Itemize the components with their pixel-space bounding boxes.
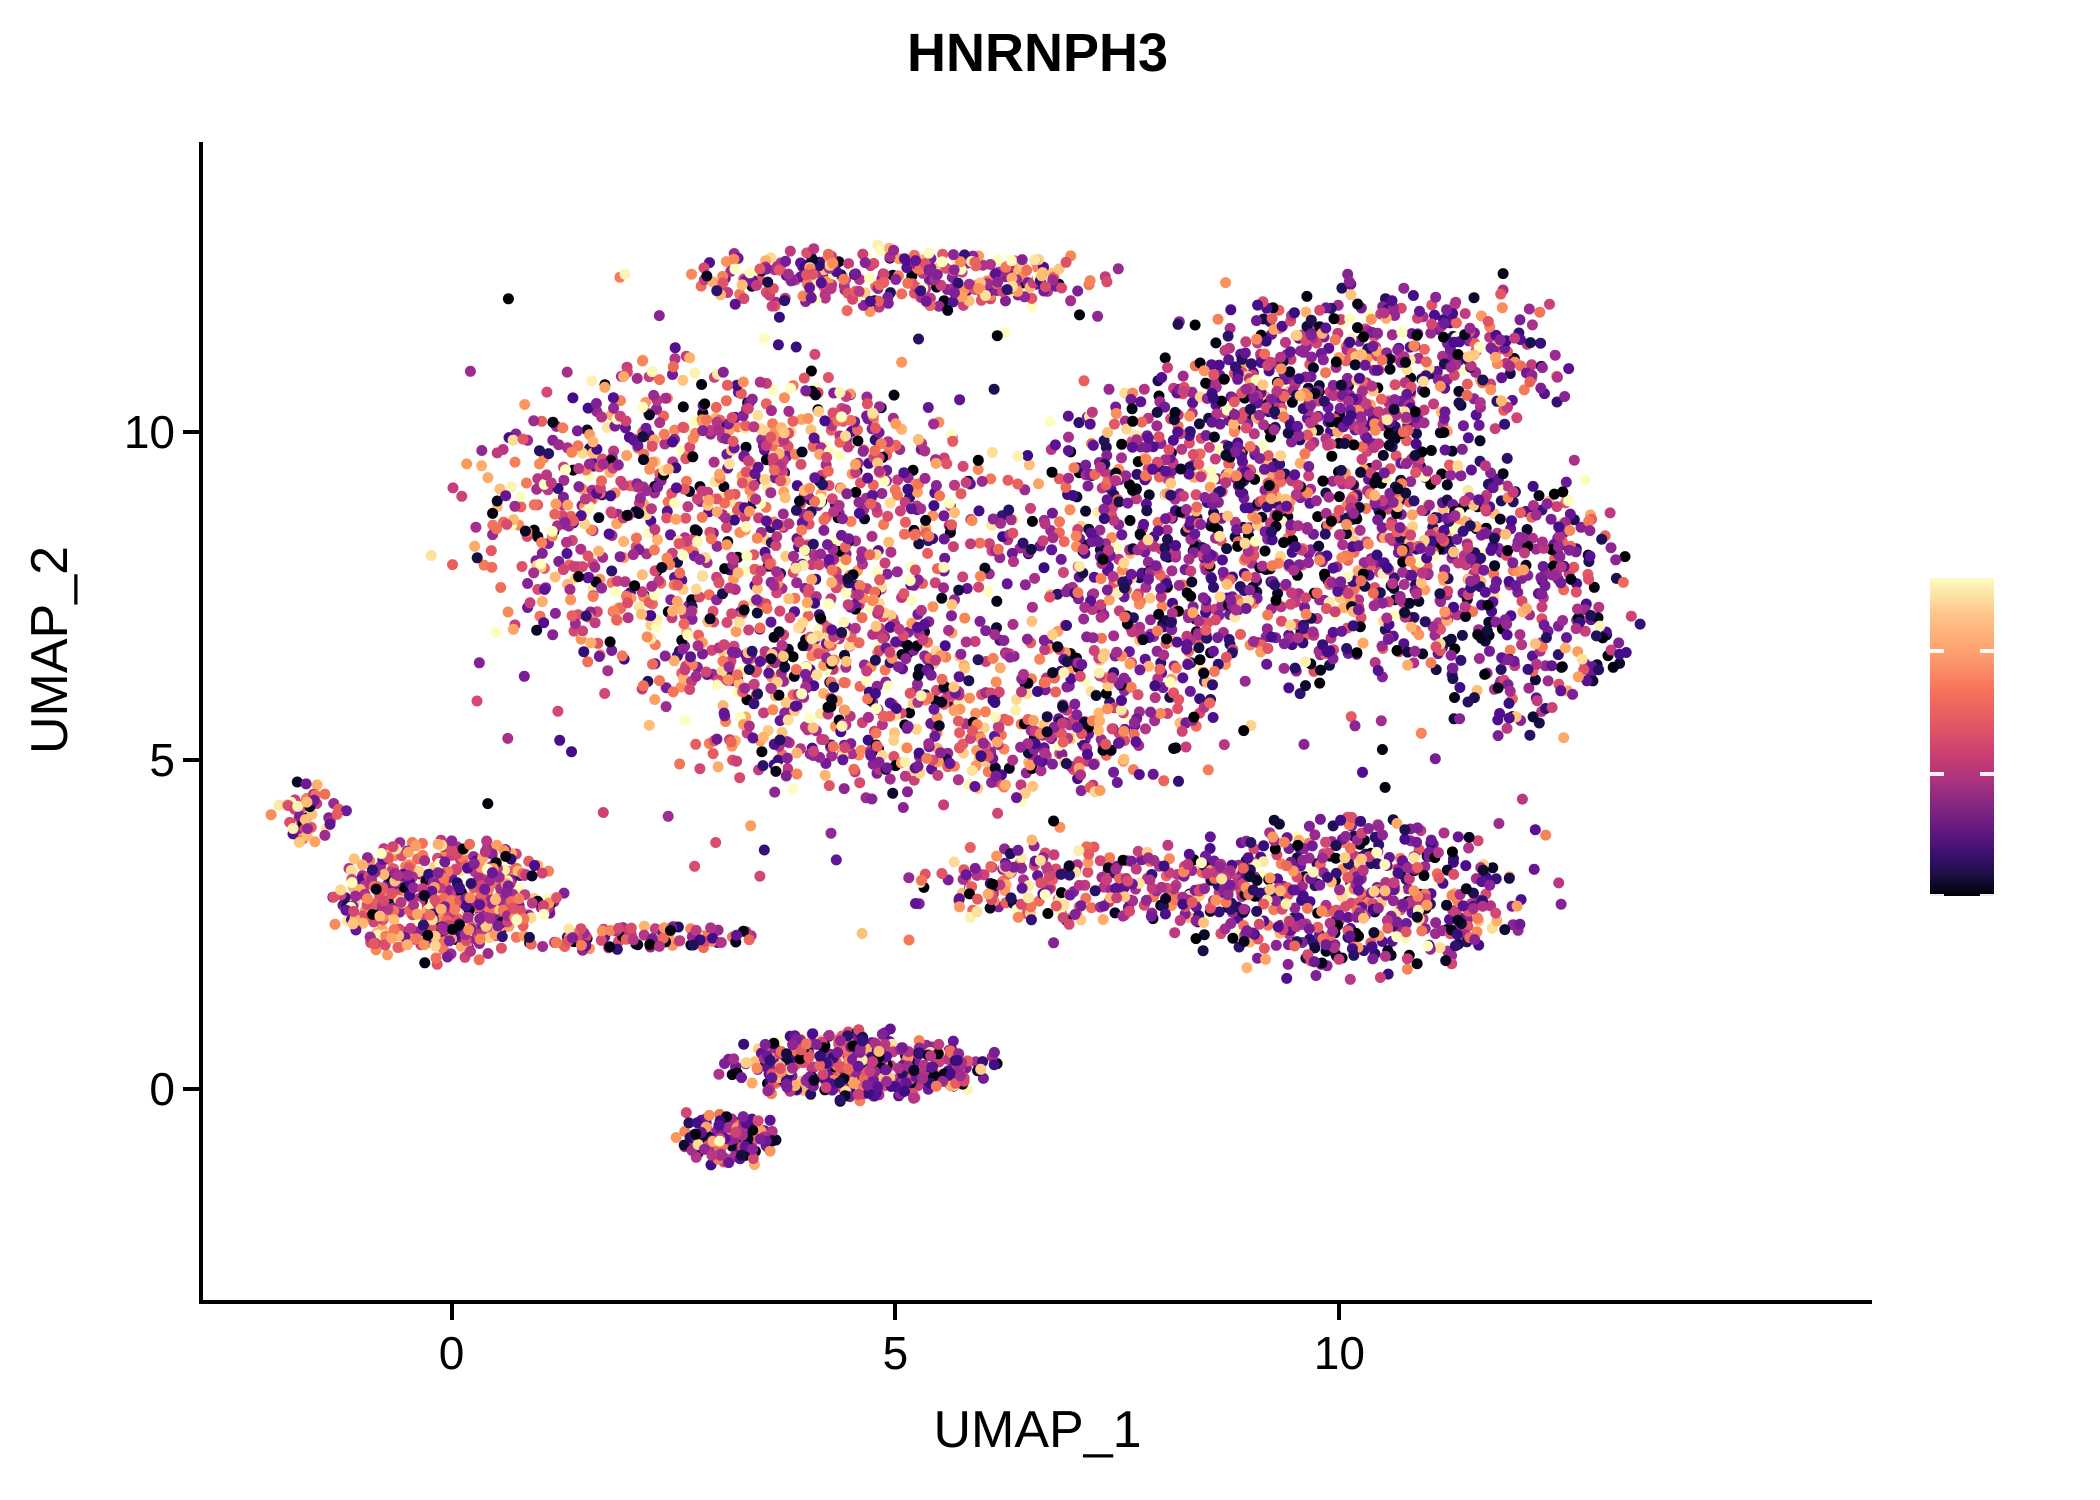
- scatter-point: [870, 655, 881, 666]
- scatter-point: [330, 919, 341, 930]
- scatter-point: [1047, 667, 1058, 678]
- scatter-point: [890, 484, 901, 495]
- scatter-point: [547, 417, 558, 428]
- scatter-point: [1440, 445, 1451, 456]
- scatter-point: [900, 517, 911, 528]
- scatter-point: [1505, 686, 1516, 697]
- scatter-point: [518, 434, 529, 445]
- scatter-point: [1082, 867, 1093, 878]
- scatter-point: [593, 512, 604, 523]
- scatter-point: [1352, 299, 1363, 310]
- scatter-point: [581, 611, 592, 622]
- scatter-point: [1311, 495, 1322, 506]
- scatter-point: [1000, 295, 1011, 306]
- scatter-point: [1534, 307, 1545, 318]
- scatter-point: [1475, 397, 1486, 408]
- scatter-point: [1542, 498, 1553, 509]
- scatter-point: [487, 508, 498, 519]
- scatter-point: [1408, 290, 1419, 301]
- scatter-point: [808, 722, 819, 733]
- scatter-point: [1439, 828, 1450, 839]
- scatter-point: [961, 477, 972, 488]
- scatter-point: [1446, 634, 1457, 645]
- scatter-point: [1320, 837, 1331, 848]
- scatter-point: [1140, 723, 1151, 734]
- scatter-point: [1036, 765, 1047, 776]
- scatter-point: [954, 394, 965, 405]
- scatter-point: [876, 488, 887, 499]
- scatter-point: [744, 664, 755, 675]
- scatter-point: [1580, 475, 1591, 486]
- scatter-point: [1000, 779, 1011, 790]
- scatter-point: [566, 447, 577, 458]
- scatter-point: [573, 481, 584, 492]
- scatter-point: [606, 566, 617, 577]
- scatter-point: [1049, 849, 1060, 860]
- scatter-point: [621, 450, 632, 461]
- scatter-point: [1436, 533, 1447, 544]
- scatter-point: [1375, 972, 1386, 983]
- scatter-point: [1061, 620, 1072, 631]
- scatter-point: [889, 390, 900, 401]
- scatter-point: [814, 559, 825, 570]
- scatter-point: [872, 741, 883, 752]
- scatter-point: [1440, 406, 1451, 417]
- scatter-point: [1075, 900, 1086, 911]
- scatter-point: [694, 554, 705, 565]
- scatter-point: [954, 671, 965, 682]
- scatter-point: [1241, 571, 1252, 582]
- scatter-point: [1430, 292, 1441, 303]
- scatter-point: [1293, 430, 1304, 441]
- scatter-point: [1585, 551, 1596, 562]
- scatter-point: [893, 661, 904, 672]
- scatter-point: [1320, 529, 1331, 540]
- scatter-point: [1401, 412, 1412, 423]
- scatter-point: [947, 436, 958, 447]
- scatter-point: [858, 446, 869, 457]
- scatter-point: [1088, 759, 1099, 770]
- scatter-point: [1208, 712, 1219, 723]
- scatter-point: [1357, 454, 1368, 465]
- scatter-point: [1300, 656, 1311, 667]
- scatter-point: [637, 569, 648, 580]
- scatter-point: [1022, 450, 1033, 461]
- scatter-point: [985, 259, 996, 270]
- scatter-point: [1026, 914, 1037, 925]
- scatter-point: [1442, 479, 1453, 490]
- scatter-point: [649, 694, 660, 705]
- scatter-point: [759, 845, 770, 856]
- scatter-point: [1012, 479, 1023, 490]
- scatter-point: [1610, 554, 1621, 565]
- scatter-point: [1033, 478, 1044, 489]
- scatter-point: [1337, 539, 1348, 550]
- scatter-point: [1050, 439, 1061, 450]
- scatter-point: [654, 675, 665, 686]
- scatter-point: [583, 551, 594, 562]
- scatter-point: [758, 732, 769, 743]
- scatter-point: [823, 372, 834, 383]
- scatter-point: [1039, 747, 1050, 758]
- scatter-point: [1235, 629, 1246, 640]
- scatter-point: [1194, 418, 1205, 429]
- scatter-point: [1198, 917, 1209, 928]
- scatter-point: [1065, 504, 1076, 515]
- scatter-point: [1350, 720, 1361, 731]
- scatter-point: [508, 435, 519, 446]
- scatter-point: [1497, 302, 1508, 313]
- scatter-point: [652, 482, 663, 493]
- scatter-point: [1176, 444, 1187, 455]
- scatter-point: [880, 558, 891, 569]
- scatter-point: [1516, 639, 1527, 650]
- scatter-point: [1535, 383, 1546, 394]
- scatter-point: [1108, 515, 1119, 526]
- scatter-point: [662, 553, 673, 564]
- scatter-point: [781, 771, 792, 782]
- scatter-point: [1193, 459, 1204, 470]
- scatter-point: [1378, 450, 1389, 461]
- scatter-point: [1188, 712, 1199, 723]
- scatter-point: [534, 459, 545, 470]
- scatter-point: [1225, 304, 1236, 315]
- scatter-point: [857, 612, 868, 623]
- scatter-point: [796, 459, 807, 470]
- scatter-point: [726, 608, 737, 619]
- scatter-point: [1306, 352, 1317, 363]
- scatter-point: [866, 794, 877, 805]
- scatter-point: [1170, 407, 1181, 418]
- scatter-point: [774, 606, 785, 617]
- scatter-point: [1170, 742, 1181, 753]
- scatter-point: [1246, 358, 1257, 369]
- scatter-point: [992, 330, 1003, 341]
- scatter-point: [973, 654, 984, 665]
- scatter-point: [1412, 958, 1423, 969]
- scatter-point: [671, 1132, 682, 1143]
- scatter-point: [1299, 739, 1310, 750]
- scatter-point: [1078, 614, 1089, 625]
- scatter-point: [755, 656, 766, 667]
- scatter-point: [1185, 686, 1196, 697]
- scatter-point: [722, 380, 733, 391]
- scatter-point: [1145, 593, 1156, 604]
- scatter-point: [1190, 320, 1201, 331]
- scatter-point: [1119, 612, 1130, 623]
- scatter-point: [547, 526, 558, 537]
- scatter-point: [751, 594, 762, 605]
- scatter-point: [588, 436, 599, 447]
- scatter-point: [903, 721, 914, 732]
- scatter-point: [1162, 362, 1173, 373]
- scatter-point: [1025, 503, 1036, 514]
- scatter-point: [1279, 663, 1290, 674]
- scatter-point: [863, 712, 874, 723]
- scatter-point: [1061, 758, 1072, 769]
- scatter-point: [1099, 513, 1110, 524]
- scatter-point: [1303, 461, 1314, 472]
- scatter-point: [1165, 478, 1176, 489]
- scatter-point: [1074, 309, 1085, 320]
- scatter-point: [1044, 592, 1055, 603]
- scatter-point: [588, 591, 599, 602]
- scatter-point: [1411, 837, 1422, 848]
- scatter-point: [926, 670, 937, 681]
- scatter-point: [1493, 730, 1504, 741]
- scatter-point: [790, 701, 801, 712]
- scatter-point: [783, 715, 794, 726]
- scatter-point: [1502, 453, 1513, 464]
- scatter-point: [565, 584, 576, 595]
- scatter-point: [605, 636, 616, 647]
- scatter-point: [1177, 672, 1188, 683]
- scatter-point: [1104, 852, 1115, 863]
- scatter-point: [783, 518, 794, 529]
- scatter-point: [767, 704, 778, 715]
- scatter-point: [1446, 650, 1457, 661]
- scatter-point: [1111, 408, 1122, 419]
- scatter-point: [1303, 470, 1314, 481]
- scatter-point: [1352, 322, 1363, 333]
- scatter-point: [1410, 450, 1421, 461]
- scatter-point: [668, 686, 679, 697]
- scatter-point: [1577, 654, 1588, 665]
- scatter-point: [1370, 425, 1381, 436]
- scatter-point: [943, 625, 954, 636]
- scatter-point: [1267, 313, 1278, 324]
- page-title: HNRNPH3: [203, 22, 1872, 84]
- scatter-point: [1173, 776, 1184, 787]
- scatter-point: [382, 949, 393, 960]
- scatter-point: [1453, 831, 1464, 842]
- scatter-point: [737, 478, 748, 489]
- scatter-point: [961, 637, 972, 648]
- scatter-point: [953, 716, 964, 727]
- scatter-point: [1367, 941, 1378, 952]
- scatter-point: [1102, 585, 1113, 596]
- scatter-point: [1138, 519, 1149, 530]
- scatter-point: [1267, 832, 1278, 843]
- scatter-point: [1187, 897, 1198, 908]
- scatter-points-layer: [203, 142, 1872, 1300]
- scatter-point: [1480, 503, 1491, 514]
- scatter-point: [734, 772, 745, 783]
- scatter-point: [1141, 454, 1152, 465]
- scatter-point: [779, 392, 790, 403]
- scatter-point: [831, 854, 842, 865]
- scatter-point: [1480, 460, 1491, 471]
- scatter-point: [1385, 364, 1396, 375]
- scatter-point: [503, 293, 514, 304]
- scatter-point: [791, 769, 802, 780]
- scatter-point: [1390, 379, 1401, 390]
- scatter-point: [1283, 959, 1294, 970]
- scatter-point: [804, 584, 815, 595]
- scatter-point: [1286, 587, 1297, 598]
- scatter-point: [896, 288, 907, 299]
- scatter-point: [584, 459, 595, 470]
- scatter-point: [809, 433, 820, 444]
- scatter-point: [1453, 558, 1464, 569]
- scatter-point: [599, 382, 610, 393]
- scatter-point: [1240, 676, 1251, 687]
- scatter-point: [1435, 942, 1446, 953]
- scatter-point: [899, 529, 910, 540]
- scatter-point: [827, 565, 838, 576]
- scatter-point: [1063, 432, 1074, 443]
- scatter-point: [871, 621, 882, 632]
- scatter-point: [1218, 567, 1229, 578]
- scatter-point: [728, 254, 739, 265]
- scatter-point: [1361, 433, 1372, 444]
- scatter-point: [949, 857, 960, 868]
- scatter-point: [1441, 304, 1452, 315]
- scatter-point: [905, 575, 916, 586]
- scatter-point: [1463, 843, 1474, 854]
- scatter-point: [1096, 573, 1107, 584]
- scatter-point: [782, 753, 793, 764]
- scatter-point: [490, 894, 501, 905]
- scatter-point: [508, 624, 519, 635]
- scatter-point: [1524, 304, 1535, 315]
- scatter-point: [823, 466, 834, 477]
- scatter-point: [796, 525, 807, 536]
- scatter-point: [755, 623, 766, 634]
- scatter-point: [1101, 276, 1112, 287]
- scatter-point: [1189, 529, 1200, 540]
- scatter-point: [1475, 553, 1486, 564]
- scatter-point: [693, 640, 704, 651]
- scatter-point: [266, 809, 277, 820]
- scatter-point: [1013, 845, 1024, 856]
- scatter-point: [949, 705, 960, 716]
- scatter-point: [1047, 629, 1058, 640]
- scatter-point: [1222, 579, 1233, 590]
- scatter-point: [535, 558, 546, 569]
- scatter-point: [769, 580, 780, 591]
- scatter-point: [1457, 630, 1468, 641]
- scatter-point: [1353, 885, 1364, 896]
- scatter-point: [850, 459, 861, 470]
- scatter-point: [842, 305, 853, 316]
- scatter-point: [1440, 955, 1451, 966]
- scatter-point: [682, 630, 693, 641]
- scatter-point: [974, 538, 985, 549]
- scatter-point: [690, 524, 701, 535]
- scatter-point: [809, 349, 820, 360]
- scatter-point: [1537, 601, 1548, 612]
- scatter-point: [785, 246, 796, 257]
- scatter-point: [1185, 426, 1196, 437]
- scatter-point: [711, 402, 722, 413]
- scatter-point: [1335, 529, 1346, 540]
- scatter-point: [576, 940, 587, 951]
- scatter-point: [1155, 708, 1166, 719]
- scatter-point: [677, 422, 688, 433]
- scatter-point: [1134, 664, 1145, 675]
- scatter-point: [1323, 492, 1334, 503]
- scatter-point: [1141, 505, 1152, 516]
- scatter-point: [1438, 427, 1449, 438]
- scatter-point: [1143, 574, 1154, 585]
- scatter-point: [550, 608, 561, 619]
- scatter-point: [1320, 367, 1331, 378]
- scatter-point: [888, 735, 899, 746]
- scatter-point: [1472, 913, 1483, 924]
- scatter-point: [843, 258, 854, 269]
- scatter-point: [991, 851, 1002, 862]
- scatter-point: [510, 457, 521, 468]
- scatter-point: [713, 761, 724, 772]
- scatter-point: [759, 333, 770, 344]
- scatter-point: [922, 548, 933, 559]
- scatter-point: [1419, 417, 1430, 428]
- plot-panel[interactable]: [203, 142, 1872, 1300]
- scatter-point: [1500, 529, 1511, 540]
- scatter-point: [527, 870, 538, 881]
- scatter-point: [1134, 769, 1145, 780]
- scatter-point: [1401, 389, 1412, 400]
- scatter-point: [848, 764, 859, 775]
- scatter-point: [1125, 515, 1136, 526]
- scatter-point: [1466, 465, 1477, 476]
- scatter-point: [944, 758, 955, 769]
- scatter-point: [1486, 342, 1497, 353]
- scatter-point: [1265, 873, 1276, 884]
- scatter-point: [553, 439, 564, 450]
- scatter-point: [1583, 516, 1594, 527]
- scatter-point: [1177, 899, 1188, 910]
- scatter-point: [1199, 883, 1210, 894]
- scatter-point: [1210, 454, 1221, 465]
- scatter-point: [647, 441, 658, 452]
- scatter-point: [1373, 665, 1384, 676]
- scatter-point: [1285, 620, 1296, 631]
- scatter-point: [1355, 467, 1366, 478]
- scatter-point: [923, 531, 934, 542]
- scatter-point: [788, 551, 799, 562]
- scatter-point: [615, 551, 626, 562]
- scatter-point: [1450, 940, 1461, 951]
- scatter-point: [766, 683, 777, 694]
- scatter-point: [1345, 974, 1356, 985]
- scatter-point: [1154, 431, 1165, 442]
- scatter-point: [1210, 615, 1221, 626]
- scatter-point: [1104, 384, 1115, 395]
- scatter-point: [1391, 916, 1402, 927]
- scatter-point: [1250, 536, 1261, 547]
- scatter-point: [1289, 469, 1300, 480]
- scatter-point: [632, 373, 643, 384]
- scatter-point: [1448, 869, 1459, 880]
- scatter-point: [554, 735, 565, 746]
- scatter-point: [852, 435, 863, 446]
- scatter-point: [1462, 390, 1473, 401]
- scatter-point: [1314, 555, 1325, 566]
- scatter-point: [1552, 372, 1563, 383]
- scatter-point: [1047, 759, 1058, 770]
- scatter-point: [1285, 346, 1296, 357]
- scatter-point: [1366, 381, 1377, 392]
- scatter-point: [1493, 818, 1504, 829]
- scatter-point: [1069, 699, 1080, 710]
- scatter-point: [1289, 941, 1300, 952]
- scatter-point: [1129, 717, 1140, 728]
- scatter-point: [1419, 344, 1430, 355]
- scatter-point: [1209, 666, 1220, 677]
- scatter-point: [826, 828, 837, 839]
